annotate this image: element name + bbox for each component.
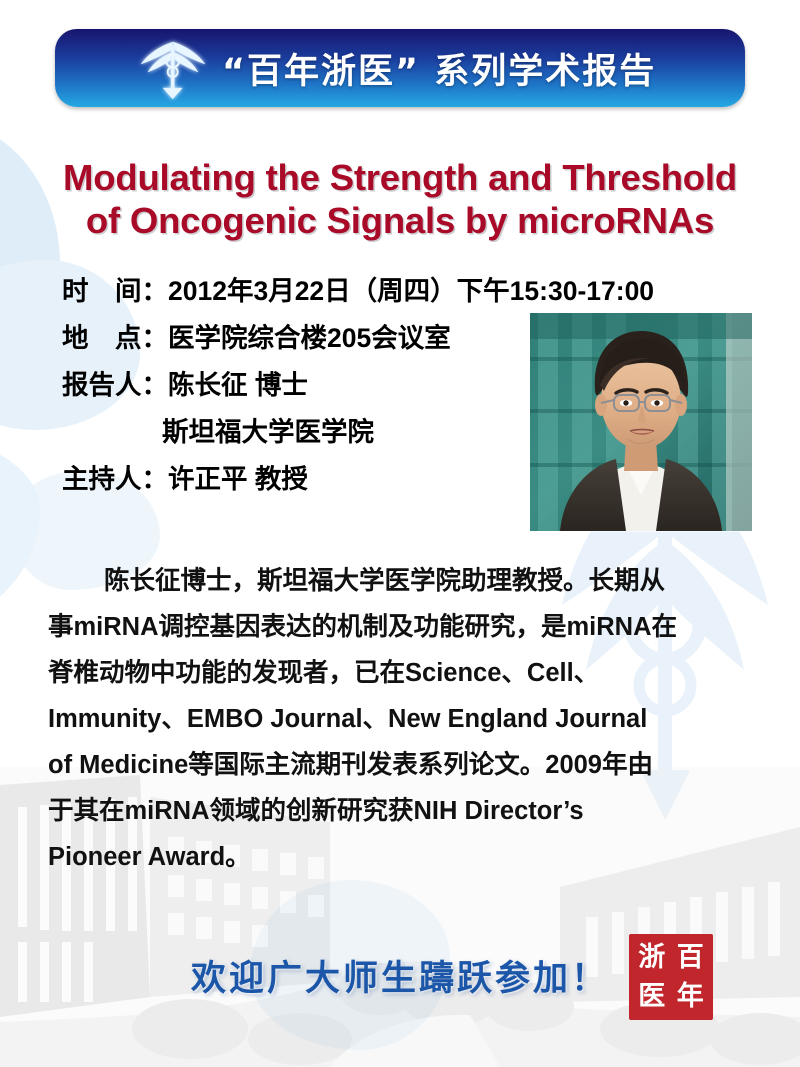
seal-char-4: 医 xyxy=(633,978,671,1017)
banner-title-text: “百年浙医” 系列学术报告 xyxy=(222,43,656,94)
baiNianZheYi-red-seal: 百 年 浙 医 xyxy=(629,934,713,1020)
event-host-value: 许正平 教授 xyxy=(168,464,308,494)
header-banner: “百年浙医” 系列学术报告 xyxy=(55,29,745,107)
bio-line-5: of Medicine等国际主流期刊发表系列论文。2009年由 xyxy=(48,742,754,788)
page-title-line-2: of Oncogenic Signals by microRNAs xyxy=(0,199,800,242)
event-speaker-affiliation: 斯坦福大学医学院 xyxy=(162,417,374,447)
event-speaker-label: 报告人： xyxy=(62,370,168,400)
page-title: Modulating the Strength and Threshold of… xyxy=(0,156,800,242)
event-host-label: 主持人： xyxy=(62,464,168,494)
bio-line-3: 脊椎动物中功能的发现者，已在Science、Cell、 xyxy=(48,650,754,696)
seal-char-2: 年 xyxy=(672,978,710,1017)
event-details: 时 间：2012年3月22日（周四）下午15:30-17:00 地 点：医学院综… xyxy=(62,268,582,503)
speaker-biography: 陈长征博士，斯坦福大学医学院助理教授。长期从 事miRNA调控基因表达的机制及功… xyxy=(48,558,754,880)
event-place-row: 地 点：医学院综合楼205会议室 xyxy=(62,315,582,362)
bio-line-1: 陈长征博士，斯坦福大学医学院助理教授。长期从 xyxy=(48,558,754,604)
event-speaker-affiliation-row: 斯坦福大学医学院 xyxy=(62,409,582,456)
event-speaker-row: 报告人：陈长征 博士 xyxy=(62,362,582,409)
event-place-label: 地 点： xyxy=(62,323,168,353)
seal-char-3: 浙 xyxy=(633,938,671,977)
event-time-row: 时 间：2012年3月22日（周四）下午15:30-17:00 xyxy=(62,268,582,315)
background-blob xyxy=(0,430,40,630)
bio-line-7: Pioneer Award。 xyxy=(48,834,754,880)
event-speaker-value: 陈长征 博士 xyxy=(168,370,308,400)
bio-line-2: 事miRNA调控基因表达的机制及功能研究，是miRNA在 xyxy=(48,604,754,650)
event-time-value: 2012年3月22日（周四）下午15:30-17:00 xyxy=(168,276,654,306)
bio-line-6: 于其在miRNA领域的创新研究获NIH Director’s xyxy=(48,788,754,834)
event-host-row: 主持人：许正平 教授 xyxy=(62,456,582,503)
caduceus-medical-logo-icon xyxy=(130,33,216,103)
speaker-portrait-photo xyxy=(530,313,752,531)
seal-char-1: 百 xyxy=(672,938,710,977)
event-place-value: 医学院综合楼205会议室 xyxy=(168,323,451,353)
seal-character-grid: 百 年 浙 医 xyxy=(633,938,709,1016)
bio-line-4: Immunity、EMBO Journal、New England Journa… xyxy=(48,696,754,742)
page-title-line-1: Modulating the Strength and Threshold xyxy=(0,156,800,199)
event-time-label: 时 间： xyxy=(62,276,168,306)
seminar-poster: “百年浙医” 系列学术报告 Modulating the Strength an… xyxy=(0,0,800,1067)
